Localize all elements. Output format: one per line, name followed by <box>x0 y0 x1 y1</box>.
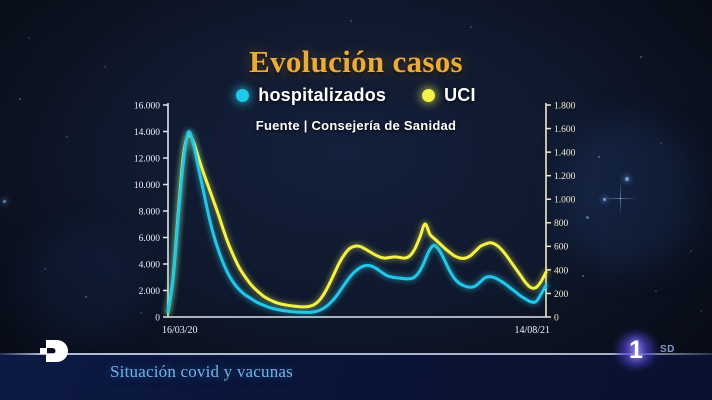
bottom-banner: Situación covid y vacunas <box>0 353 712 400</box>
svg-text:0: 0 <box>155 313 160 323</box>
svg-text:1.000: 1.000 <box>554 196 576 206</box>
svg-text:10.000: 10.000 <box>134 181 160 191</box>
svg-text:16.000: 16.000 <box>134 101 160 111</box>
svg-text:8.000: 8.000 <box>139 207 161 217</box>
svg-text:14.000: 14.000 <box>134 128 160 138</box>
svg-text:16/03/20: 16/03/20 <box>162 325 198 336</box>
banner-divider <box>0 353 712 355</box>
series-line-hospitalizados <box>168 132 546 313</box>
quality-badge-sd: SD <box>660 344 675 355</box>
svg-text:1.400: 1.400 <box>554 149 576 159</box>
svg-text:1.800: 1.800 <box>554 101 576 111</box>
svg-text:14/08/21: 14/08/21 <box>514 325 550 336</box>
svg-text:200: 200 <box>554 290 569 300</box>
svg-text:6.000: 6.000 <box>139 234 161 244</box>
broadcast-graphic: Evolución casos hospitalizados UCI Fuent… <box>0 0 712 400</box>
svg-text:800: 800 <box>554 219 569 229</box>
svg-text:2.000: 2.000 <box>139 287 161 297</box>
d-logo-icon <box>40 340 70 362</box>
banner-headline: Situación covid y vacunas <box>110 362 293 382</box>
svg-text:12.000: 12.000 <box>134 154 160 164</box>
channel-one-logo: 1 <box>612 330 660 370</box>
svg-text:400: 400 <box>554 266 569 276</box>
svg-text:1.200: 1.200 <box>554 172 576 182</box>
banner-background <box>0 353 712 400</box>
svg-text:4.000: 4.000 <box>139 260 161 270</box>
channel-number: 1 <box>612 330 660 370</box>
line-chart: 02.0004.0006.0008.00010.00012.00014.0001… <box>0 0 712 400</box>
svg-text:1.600: 1.600 <box>554 125 576 135</box>
svg-text:600: 600 <box>554 243 569 253</box>
svg-text:0: 0 <box>554 313 559 323</box>
